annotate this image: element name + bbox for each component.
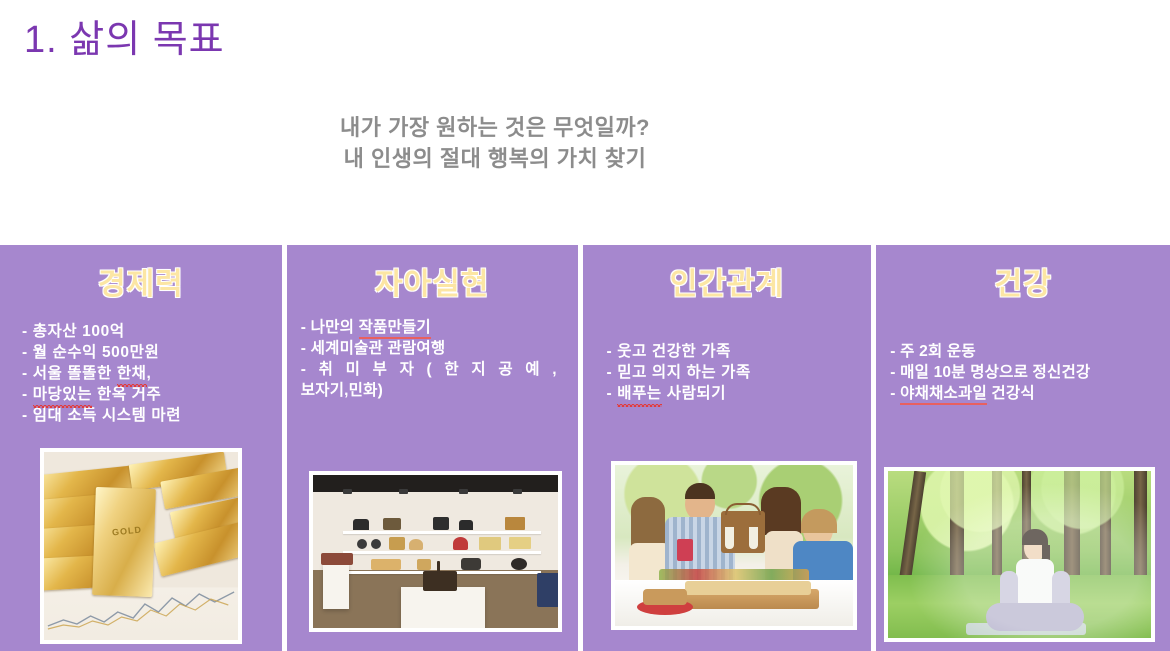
- stock-chart-line: [44, 586, 238, 632]
- bullet-text-post: 한옥 거주: [92, 386, 161, 403]
- bullet-dash: -: [301, 319, 306, 336]
- bullet-text: 총자산 100억: [33, 323, 125, 340]
- list-item: - 월 순수익 500만원: [22, 342, 282, 363]
- list-item: - 주 2회 운동: [890, 341, 1170, 362]
- bullet-dash: -: [890, 343, 895, 360]
- subtitle-line-1: 내가 가장 원하는 것은 무엇일까?: [0, 112, 990, 143]
- bullet-text: 믿고 의지 하는 가족: [617, 364, 751, 381]
- goal-columns-band: 경제력 - 총자산 100억 - 월 순수익 500만원 - 서울 똘똘한 한채…: [0, 245, 1170, 651]
- column-economic-power[interactable]: 경제력 - 총자산 100억 - 월 순수익 500만원 - 서울 똘똘한 한채…: [0, 245, 282, 651]
- list-item: - 임대 소득 시스템 마련: [22, 405, 282, 426]
- bullet-text: 웃고 건강한 가족: [617, 343, 731, 360]
- list-item: - 총자산 100억: [22, 321, 282, 342]
- column-heading-self-realization: 자아실현: [375, 259, 489, 303]
- spellcheck-flagged-word: 작품만들기: [359, 319, 431, 339]
- column-human-relationships[interactable]: 인간관계 - 웃고 건강한 가족 - 믿고 의지 하는 가족 - 배푸는 사람되…: [583, 245, 872, 651]
- bullet-text: 월 순수익 500만원: [33, 344, 160, 361]
- bullet-text: 보자기,민화): [301, 382, 383, 399]
- subtitle-block: 내가 가장 원하는 것은 무엇일까? 내 인생의 절대 행복의 가치 찾기: [0, 112, 1170, 174]
- bullet-dash: -: [607, 343, 613, 360]
- family-picnic-photo[interactable]: [611, 461, 857, 630]
- gold-bars-photo[interactable]: GOLD: [40, 448, 242, 644]
- column-health[interactable]: 건강 - 주 2회 운동 - 매일 10분 명상으로 정신건강 - 야채채소과일…: [876, 245, 1170, 651]
- bullet-text: 매일 10분 명상으로 정신건강: [900, 364, 1090, 381]
- bullet-dash: -: [301, 340, 306, 357]
- bullet-dash: -: [301, 361, 310, 378]
- bullet-text-pre: 나만의: [311, 319, 359, 336]
- bullet-text-post: 건강식: [987, 385, 1035, 402]
- bullet-dash: -: [890, 385, 895, 402]
- bullet-dash: -: [22, 365, 28, 382]
- bullet-text-post: ,: [147, 365, 152, 382]
- bullet-text: 세계미술관 관람여행: [311, 340, 446, 357]
- list-item: - 야채채소과일 건강식: [890, 383, 1170, 404]
- spellcheck-flagged-word: 한채: [117, 363, 147, 384]
- list-item: - 세계미술관 관람여행: [301, 338, 578, 359]
- spellcheck-flagged-word: 배푸는: [617, 383, 662, 404]
- bullet-list-health: - 주 2회 운동 - 매일 10분 명상으로 정신건강 - 야채채소과일 건강…: [876, 341, 1170, 404]
- bullet-text: 임대 소득 시스템 마련: [33, 407, 181, 424]
- list-item: - 배푸는 사람되기: [607, 383, 872, 404]
- list-item: - 나만의 작품만들기: [301, 317, 578, 338]
- page-title: 1. 삶의 목표: [24, 8, 225, 63]
- bullet-text-pre: 서울 똘똘한: [33, 365, 117, 382]
- column-heading-health: 건강: [995, 259, 1052, 303]
- list-item: 보자기,민화): [301, 380, 578, 401]
- bullet-dash: -: [607, 364, 613, 381]
- column-heading-economic-power: 경제력: [98, 259, 184, 303]
- list-item: - 매일 10분 명상으로 정신건강: [890, 362, 1170, 383]
- bullet-list-economic-power: - 총자산 100억 - 월 순수익 500만원 - 서울 똘똘한 한채, - …: [0, 321, 282, 426]
- bullet-dash: -: [22, 344, 28, 361]
- museum-gallery-photo[interactable]: [309, 471, 562, 632]
- list-item: - 믿고 의지 하는 가족: [607, 362, 872, 383]
- bullet-dash: -: [22, 323, 28, 340]
- bullet-text-post: 사람되기: [662, 385, 726, 402]
- bullet-text: 취 미 부 자 ( 한 지 공 예 ,: [319, 361, 561, 378]
- column-self-realization[interactable]: 자아실현 - 나만의 작품만들기 - 세계미술관 관람여행 - 취 미 부 자 …: [287, 245, 578, 651]
- bullet-text: 주 2회 운동: [900, 343, 976, 360]
- bullet-list-human-relationships: - 웃고 건강한 가족 - 믿고 의지 하는 가족 - 배푸는 사람되기: [583, 341, 872, 404]
- subtitle-line-2: 내 인생의 절대 행복의 가치 찾기: [0, 143, 990, 174]
- bullet-dash: -: [607, 385, 613, 402]
- spellcheck-flagged-word: 야채채소과일: [900, 385, 987, 405]
- bullet-dash: -: [22, 386, 28, 403]
- list-item: - 웃고 건강한 가족: [607, 341, 872, 362]
- bullet-dash: -: [22, 407, 28, 424]
- spellcheck-flagged-word: 마당있는: [33, 384, 92, 405]
- list-item: - 취 미 부 자 ( 한 지 공 예 ,: [301, 359, 578, 380]
- meditation-forest-photo[interactable]: [884, 467, 1155, 642]
- column-heading-human-relationships: 인간관계: [670, 259, 784, 303]
- list-item: - 마당있는 한옥 거주: [22, 384, 282, 405]
- bullet-list-self-realization: - 나만의 작품만들기 - 세계미술관 관람여행 - 취 미 부 자 ( 한 지…: [287, 317, 578, 401]
- bullet-dash: -: [890, 364, 895, 381]
- list-item: - 서울 똘똘한 한채,: [22, 363, 282, 384]
